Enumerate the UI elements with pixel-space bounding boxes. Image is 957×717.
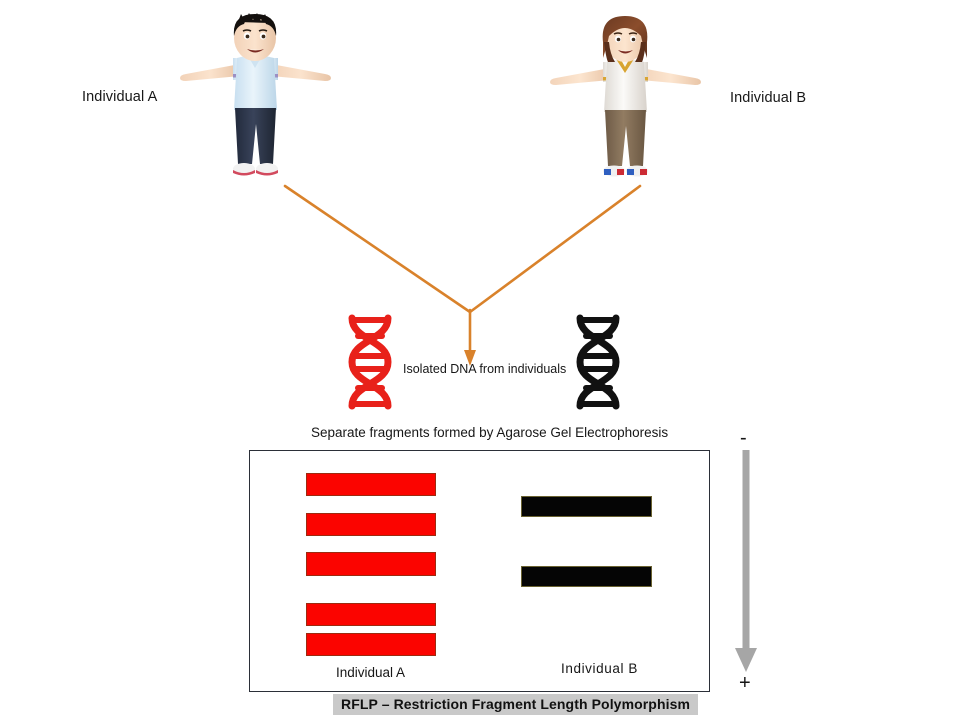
page-title: RFLP – Restriction Fragment Length Polym… bbox=[333, 694, 698, 715]
gel-band-b-2 bbox=[521, 566, 652, 587]
isolated-dna-caption: Isolated DNA from individuals bbox=[403, 362, 566, 376]
electrode-positive-label: + bbox=[739, 673, 751, 693]
dna-helix-icon-b bbox=[568, 312, 628, 417]
gel-band-a-1 bbox=[306, 473, 436, 496]
gel-band-a-3 bbox=[306, 552, 436, 576]
gel-band-a-4 bbox=[306, 603, 436, 626]
electrophoresis-caption: Separate fragments formed by Agarose Gel… bbox=[311, 425, 668, 440]
gel-lane-b-label: Individual B bbox=[561, 661, 638, 676]
gel-box: Individual A Individual B bbox=[249, 450, 710, 692]
gel-lane-a-label: Individual A bbox=[336, 665, 405, 680]
rflp-diagram: Individual A Individual B bbox=[0, 0, 957, 717]
dna-helix-icon-a bbox=[340, 312, 400, 417]
gel-band-b-1 bbox=[521, 496, 652, 517]
gel-band-a-5 bbox=[306, 633, 436, 656]
electrode-negative-label: - bbox=[740, 428, 747, 448]
gel-band-a-2 bbox=[306, 513, 436, 536]
